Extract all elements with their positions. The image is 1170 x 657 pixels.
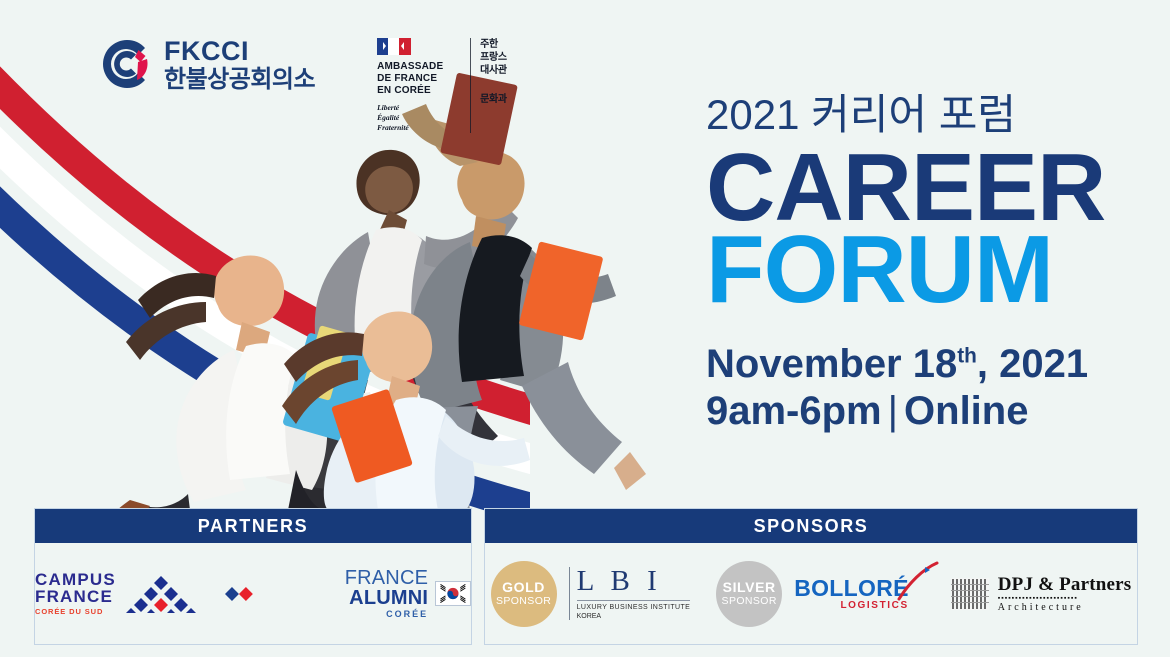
embassy-korean-name: 주한 프랑스 대사관 문화과: [480, 38, 507, 106]
dpj-grid-icon: [951, 578, 989, 610]
sponsors-header: SPONSORS: [485, 509, 1137, 543]
alumni-word-bold: ALUMNI: [349, 587, 428, 609]
alumni-main-text: FRANCE ALUMNI: [261, 568, 428, 608]
alumni-diamonds-icon: [224, 586, 254, 602]
lbi-vertical-rule: [569, 567, 570, 620]
campus-france-wordmark: CAMPUS FRANCE CORÉE DU SUD: [35, 571, 116, 616]
embassy-kr-line-4: 문화과: [480, 93, 507, 106]
bollore-subtitle: LOGISTICS: [794, 601, 909, 611]
sponsors-panel: SPONSORS GOLD SPONSOR L B I LUXURY BUSIN…: [484, 508, 1138, 645]
korean-flag-icon: [435, 581, 471, 606]
lbi-subtitle: LUXURY BUSINESS INSTITUTE: [577, 604, 691, 611]
lbi-initials: L B I: [577, 567, 691, 596]
french-flag-icon: [377, 38, 411, 55]
event-time-mode: 9am-6pm|Online: [706, 388, 1146, 435]
embassy-kr-line-2: 프랑스: [480, 51, 507, 64]
alumni-word-light: FRANCE: [345, 567, 428, 589]
embassy-motto: Liberté Égalité Fraternité: [377, 103, 461, 133]
partner-campus-france[interactable]: CAMPUS FRANCE CORÉE DU SUD: [35, 571, 198, 616]
bollore-logistics-logo: BOLLORÉ LOGISTICS: [794, 577, 925, 611]
french-embassy-logo: AMBASSADE DE FRANCE EN CORÉE Liberté Éga…: [377, 36, 507, 133]
date-suffix: , 2021: [977, 342, 1088, 386]
lbi-horizontal-rule: [577, 600, 691, 601]
lbi-logo: L B I LUXURY BUSINESS INSTITUTE KOREA: [569, 567, 691, 620]
sponsors-body: GOLD SPONSOR L B I LUXURY BUSINESS INSTI…: [485, 543, 1137, 644]
sponsor-silver-bollore[interactable]: SILVER SPONSOR BOLLORÉ LOGISTICS: [716, 561, 925, 627]
event-mode: Online: [904, 389, 1028, 433]
alumni-subtitle: CORÉE: [261, 610, 428, 619]
sponsor-gold-lbi[interactable]: GOLD SPONSOR L B I LUXURY BUSINESS INSTI…: [491, 561, 691, 627]
embassy-kr-line-1: 주한: [480, 38, 507, 51]
embassy-line-2: DE FRANCE: [377, 73, 461, 85]
lbi-country: KOREA: [577, 613, 691, 620]
dpj-subtitle: Architecture: [998, 603, 1132, 613]
partner-france-alumni[interactable]: FRANCE ALUMNI CORÉE: [224, 568, 471, 619]
motto-liberte: Liberté: [377, 103, 461, 113]
lbi-text-block: L B I LUXURY BUSINESS INSTITUTE KOREA: [577, 567, 691, 620]
embassy-line-3: EN CORÉE: [377, 85, 461, 97]
bollore-name: BOLLORÉ: [794, 577, 909, 600]
leaping-professionals-photo: [110, 70, 720, 510]
dpj-wordmark: DPJ & Partners ▪▪▪▪▪▪▪▪▪▪▪▪▪▪▪▪▪▪▪▪▪▪▪ A…: [998, 575, 1132, 613]
time-mode-separator: |: [882, 389, 904, 433]
partners-panel: PARTNERS CAMPUS FRANCE CORÉE DU SUD: [34, 508, 472, 645]
fkcci-name-en: FKCCI: [164, 38, 315, 65]
fkcci-wordmark: FKCCI 한불상공회의소: [164, 36, 315, 92]
partners-body: CAMPUS FRANCE CORÉE DU SUD: [35, 543, 471, 644]
motto-fraternite: Fraternité: [377, 123, 461, 133]
gold-badge-bottom: SPONSOR: [496, 596, 551, 607]
dpj-dotted-rule: ▪▪▪▪▪▪▪▪▪▪▪▪▪▪▪▪▪▪▪▪▪▪▪: [998, 595, 1132, 602]
sponsor-dpj-partners[interactable]: DPJ & Partners ▪▪▪▪▪▪▪▪▪▪▪▪▪▪▪▪▪▪▪▪▪▪▪ A…: [951, 575, 1132, 613]
event-date: November 18th, 2021: [706, 341, 1146, 388]
bollore-swoosh-icon: [895, 561, 939, 601]
fkcci-c-mark-icon: [100, 37, 154, 91]
career-forum-poster: FKCCI 한불상공회의소 AMBASSADE DE FRANCE EN COR…: [0, 0, 1170, 657]
dpj-name: DPJ & Partners: [998, 575, 1132, 594]
partners-header: PARTNERS: [35, 509, 471, 543]
embassy-name: AMBASSADE DE FRANCE EN CORÉE: [377, 61, 461, 98]
france-alumni-wordmark: FRANCE ALUMNI CORÉE: [261, 568, 428, 619]
embassy-divider: [470, 38, 471, 133]
fkcci-name-kr: 한불상공회의소: [164, 68, 315, 92]
gold-sponsor-badge: GOLD SPONSOR: [491, 561, 557, 627]
header-logo-row: FKCCI 한불상공회의소 AMBASSADE DE FRANCE EN COR…: [100, 36, 507, 133]
campus-subtitle: CORÉE DU SUD: [35, 608, 116, 616]
gold-badge-top: GOLD: [502, 580, 545, 595]
korean-title: 2021 커리어 포럼: [706, 94, 1146, 136]
date-prefix: November 18: [706, 342, 957, 386]
headline-block: 2021 커리어 포럼 CAREER FORUM November 18th, …: [706, 94, 1146, 435]
campus-word-2: FRANCE: [35, 588, 116, 605]
silver-sponsor-badge: SILVER SPONSOR: [716, 561, 782, 627]
campus-word-1: CAMPUS: [35, 571, 116, 588]
embassy-left-column: AMBASSADE DE FRANCE EN CORÉE Liberté Éga…: [377, 38, 461, 133]
silver-badge-top: SILVER: [723, 580, 776, 595]
motto-egalite: Égalité: [377, 113, 461, 123]
event-time: 9am-6pm: [706, 389, 882, 433]
embassy-line-1: AMBASSADE: [377, 61, 461, 73]
date-ordinal: th: [957, 344, 977, 367]
campus-france-diamonds-icon: [124, 574, 198, 614]
embassy-kr-line-3: 대사관: [480, 64, 507, 77]
silver-badge-bottom: SPONSOR: [722, 596, 777, 607]
fkcci-logo: FKCCI 한불상공회의소: [100, 36, 315, 92]
